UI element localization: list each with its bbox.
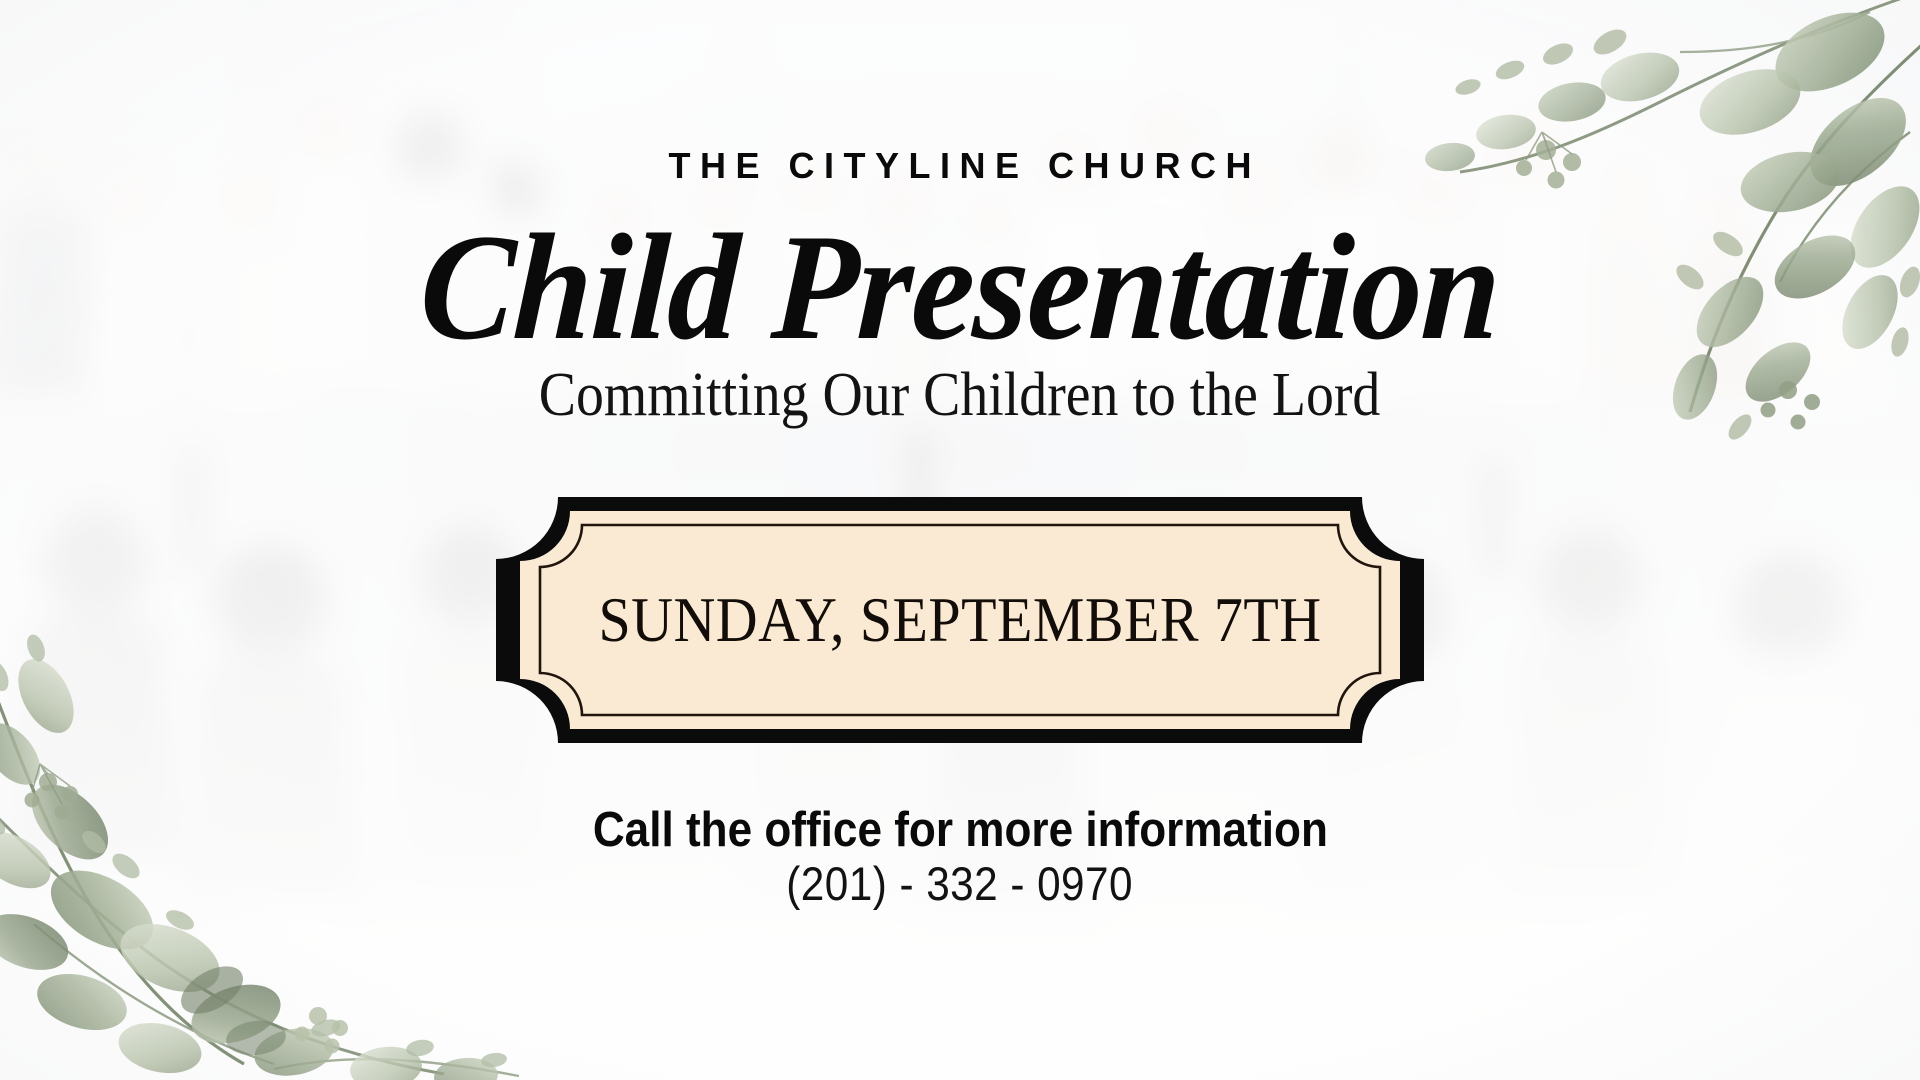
date-plaque-label: SUNDAY, SEPTEMBER 7TH: [528, 491, 1393, 749]
slide-content: THE CITYLINE CHURCH Child Presentation C…: [0, 0, 1920, 1080]
phone-number: (201) - 332 - 0970: [787, 859, 1134, 910]
church-announcement-slide: THE CITYLINE CHURCH Child Presentation C…: [0, 0, 1920, 1080]
date-plaque: SUNDAY, SEPTEMBER 7TH: [490, 491, 1430, 749]
page-subtitle: Committing Our Children to the Lord: [539, 364, 1381, 427]
call-to-action-text: Call the office for more information: [592, 805, 1327, 857]
page-title: Child Presentation: [417, 218, 1503, 358]
organization-name: THE CITYLINE CHURCH: [659, 148, 1261, 184]
